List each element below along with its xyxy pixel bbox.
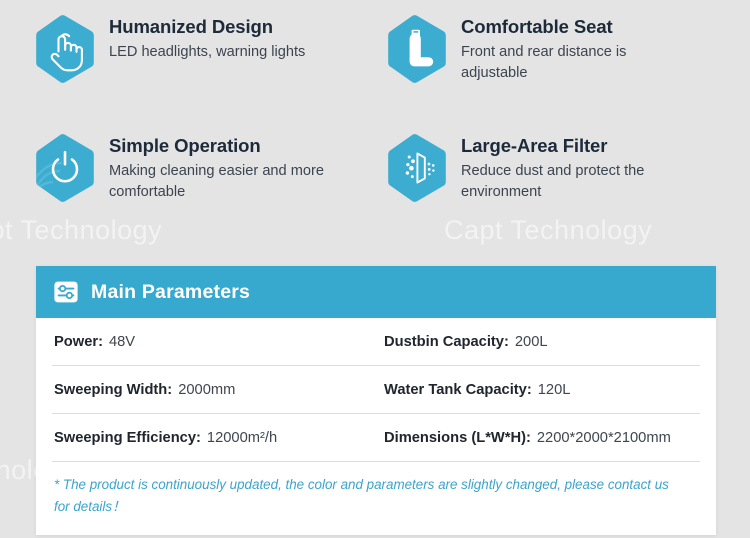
feature-description: Making cleaning easier and more comforta… xyxy=(109,161,324,202)
param-cell-sweeping-efficiency: Sweeping Efficiency: 12000m²/h xyxy=(52,430,382,446)
feature-title: Large-Area Filter xyxy=(461,134,676,157)
param-cell-power: Power: 48V xyxy=(52,334,382,350)
param-label: Water Tank Capacity: xyxy=(384,382,532,398)
air-filter-icon xyxy=(386,133,448,203)
main-parameters-panel: Main Parameters Power: 48V Dustbin Capac… xyxy=(36,266,716,535)
feature-card-humanized-design: Humanized Design LED headlights, warning… xyxy=(34,12,374,131)
feature-text: Simple Operation Making cleaning easier … xyxy=(109,131,324,203)
param-cell-dimensions: Dimensions (L*W*H): 2200*2000*2100mm xyxy=(382,430,700,446)
param-value: 48V xyxy=(109,334,135,350)
param-label: Sweeping Efficiency: xyxy=(54,430,201,446)
feature-card-comfortable-seat: Comfortable Seat Front and rear distance… xyxy=(386,12,726,131)
param-cell-sweeping-width: Sweeping Width: 2000mm xyxy=(52,382,382,398)
feature-text: Humanized Design LED headlights, warning… xyxy=(109,12,305,63)
table-row: Sweeping Efficiency: 12000m²/h Dimension… xyxy=(52,414,700,462)
power-button-icon xyxy=(34,133,96,203)
table-row: Sweeping Width: 2000mm Water Tank Capaci… xyxy=(52,366,700,414)
param-label: Dustbin Capacity: xyxy=(384,334,509,350)
feature-description: LED headlights, warning lights xyxy=(109,42,305,63)
feature-text: Large-Area Filter Reduce dust and protec… xyxy=(461,131,676,203)
feature-description: Reduce dust and protect the environment xyxy=(461,161,676,202)
param-value: 12000m²/h xyxy=(207,430,277,446)
feature-title: Simple Operation xyxy=(109,134,324,157)
param-value: 2000mm xyxy=(178,382,235,398)
param-label: Power: xyxy=(54,334,103,350)
feature-description: Front and rear distance is adjustable xyxy=(461,42,676,83)
sliders-icon xyxy=(53,279,79,305)
panel-body: Power: 48V Dustbin Capacity: 200L Sweepi… xyxy=(36,318,716,535)
panel-header: Main Parameters xyxy=(36,266,716,318)
param-value: 2200*2000*2100mm xyxy=(537,430,671,446)
feature-card-simple-operation: Simple Operation Making cleaning easier … xyxy=(34,131,374,250)
table-row: Power: 48V Dustbin Capacity: 200L xyxy=(52,318,700,366)
feature-card-large-area-filter: Large-Area Filter Reduce dust and protec… xyxy=(386,131,726,250)
feature-title: Humanized Design xyxy=(109,15,305,38)
feature-title: Comfortable Seat xyxy=(461,15,676,38)
param-value: 120L xyxy=(538,382,571,398)
panel-title: Main Parameters xyxy=(91,281,250,304)
param-cell-dustbin-capacity: Dustbin Capacity: 200L xyxy=(382,334,700,350)
param-cell-water-tank-capacity: Water Tank Capacity: 120L xyxy=(382,382,700,398)
param-label: Dimensions (L*W*H): xyxy=(384,430,531,446)
param-label: Sweeping Width: xyxy=(54,382,172,398)
feature-grid: Humanized Design LED headlights, warning… xyxy=(0,0,750,250)
hand-touch-icon xyxy=(34,14,96,84)
panel-disclaimer-note: * The product is continuously updated, t… xyxy=(52,462,700,535)
param-value: 200L xyxy=(515,334,548,350)
seat-icon xyxy=(386,14,448,84)
feature-text: Comfortable Seat Front and rear distance… xyxy=(461,12,676,84)
